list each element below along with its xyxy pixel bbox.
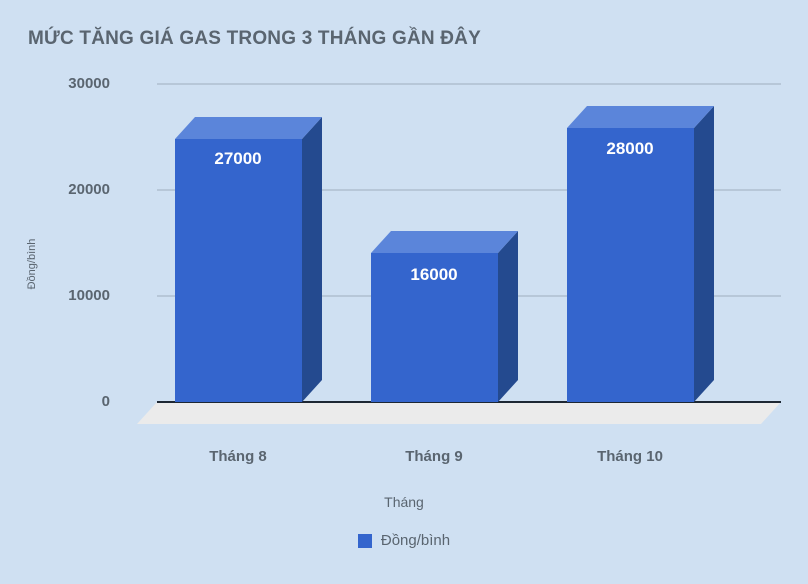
floor-plane bbox=[137, 402, 781, 424]
legend-label-dong-binh: Đồng/bình bbox=[381, 532, 450, 549]
bar-top-thang-9 bbox=[371, 231, 518, 253]
chart-container: MỨC TĂNG GIÁ GAS TRONG 3 THÁNG GẦN ĐÂY 3… bbox=[0, 0, 808, 584]
x-axis-tick-thang-9: Tháng 9 bbox=[344, 448, 524, 465]
x-axis-tick-thang-8: Tháng 8 bbox=[148, 448, 328, 465]
x-axis-title: Tháng bbox=[0, 494, 808, 510]
bar-top-thang-10 bbox=[567, 106, 714, 128]
bar-value-thang-9: 16000 bbox=[354, 265, 514, 285]
bar-top-thang-8 bbox=[175, 117, 322, 139]
bar-front-thang-8 bbox=[175, 139, 302, 402]
bar-value-thang-10: 28000 bbox=[550, 139, 710, 159]
bar-value-thang-8: 27000 bbox=[158, 149, 318, 169]
bar-front-thang-10 bbox=[567, 128, 694, 402]
bar-side-thang-9 bbox=[498, 231, 518, 402]
bar-group-thang-9[interactable] bbox=[371, 231, 518, 402]
chart-legend: Đồng/bình bbox=[0, 532, 808, 549]
x-axis-tick-thang-10: Tháng 10 bbox=[540, 448, 720, 465]
legend-swatch-icon bbox=[358, 534, 372, 548]
